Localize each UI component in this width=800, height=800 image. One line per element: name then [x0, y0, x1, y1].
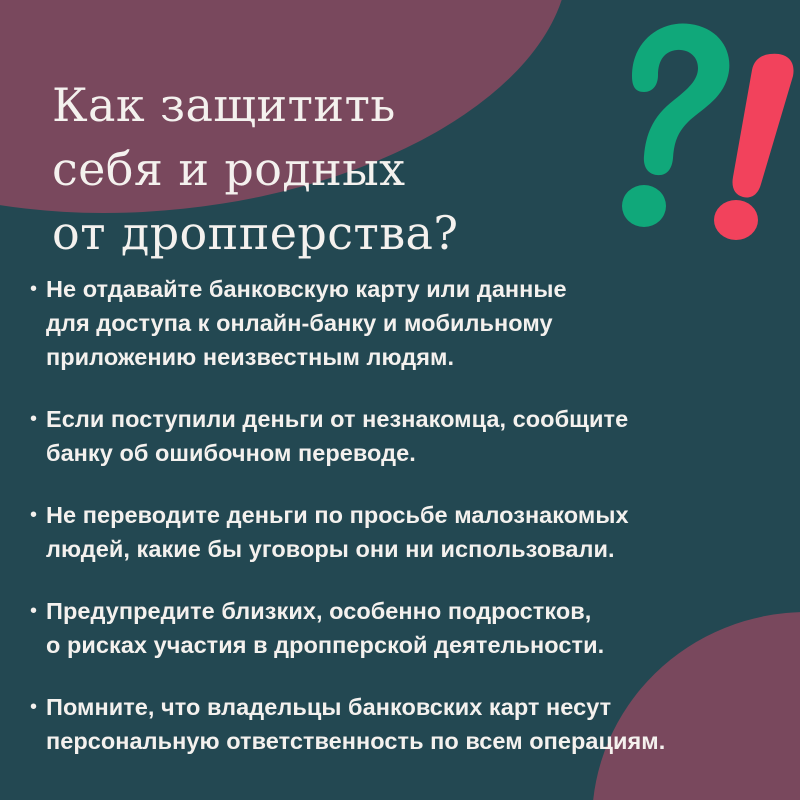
- page-title: Как защитить себя и родных от дропперств…: [52, 73, 612, 265]
- list-item-do-not-transfer-money: • Не переводите деньги по просьбе малозн…: [30, 498, 778, 566]
- list-item-do-not-give-card: • Не отдавайте банковскую карту или данн…: [30, 272, 778, 374]
- list-item-personal-responsibility: • Помните, что владельцы банковских карт…: [30, 690, 778, 758]
- list-item-report-wrong-transfer: • Если поступили деньги от незнакомца, с…: [30, 402, 778, 470]
- bullet-dot-icon: •: [30, 498, 46, 532]
- list-item-warn-relatives: • Предупредите близких, особенно подрост…: [30, 594, 778, 662]
- list-item-text: Помните, что владельцы банковских карт н…: [46, 690, 778, 758]
- list-item-text: Если поступили деньги от незнакомца, соо…: [46, 402, 778, 470]
- bullet-dot-icon: •: [30, 690, 46, 724]
- bullet-dot-icon: •: [30, 272, 46, 306]
- list-item-text: Предупредите близких, особенно подростко…: [46, 594, 778, 662]
- list-item-text: Не переводите деньги по просьбе малознак…: [46, 498, 778, 566]
- list-item-text: Не отдавайте банковскую карту или данные…: [46, 272, 778, 374]
- bullet-dot-icon: •: [30, 594, 46, 628]
- infographic-poster: Как защитить себя и родных от дропперств…: [0, 0, 800, 800]
- tips-list: • Не отдавайте банковскую карту или данн…: [30, 272, 778, 758]
- exclamation-mark-icon: [706, 48, 798, 240]
- bullet-dot-icon: •: [30, 402, 46, 436]
